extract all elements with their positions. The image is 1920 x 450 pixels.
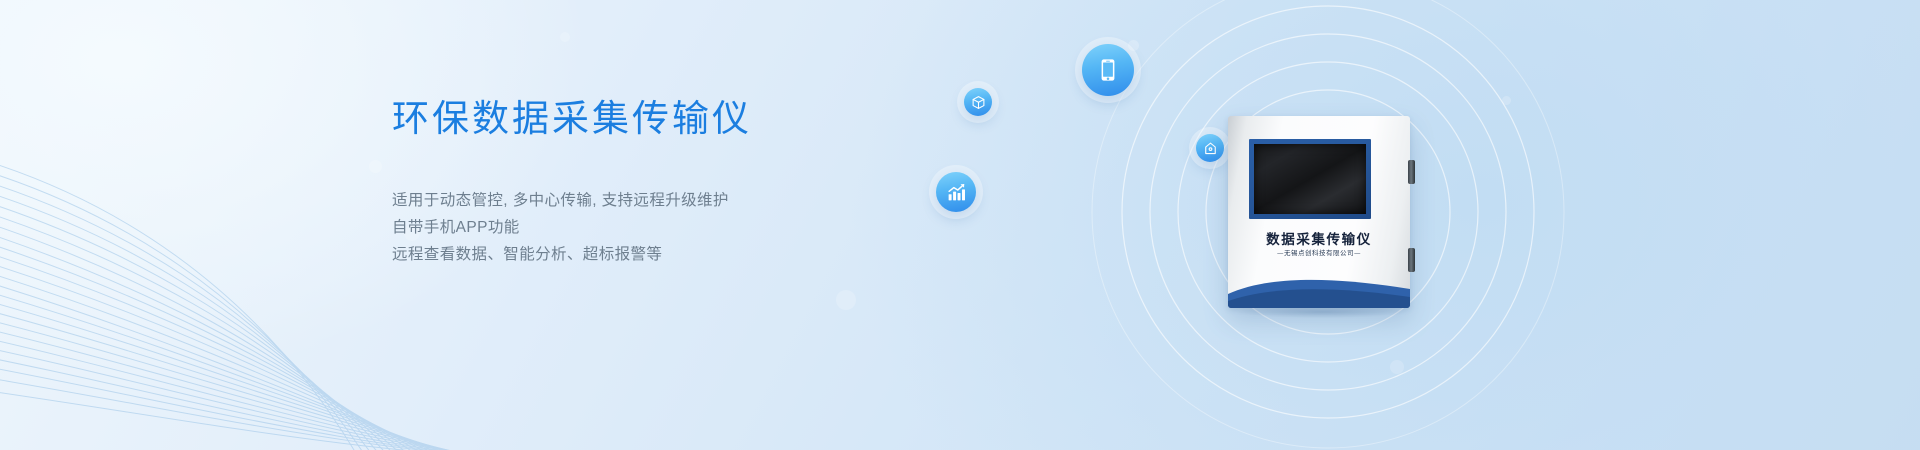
subtitle-line-3: 远程查看数据、智能分析、超标报警等 bbox=[392, 241, 912, 268]
page-title: 环保数据采集传输仪 bbox=[392, 96, 912, 143]
bokeh-dot bbox=[560, 32, 570, 42]
device-screen-frame bbox=[1249, 139, 1371, 219]
product-hero-banner: 环保数据采集传输仪 适用于动态管控, 多中心传输, 支持远程升级维护 自带手机A… bbox=[0, 0, 1920, 450]
bokeh-dot bbox=[836, 290, 856, 310]
icon-bubble-cube[interactable] bbox=[964, 88, 992, 116]
device-hinge-bottom bbox=[1408, 248, 1415, 272]
device-body: 数据采集传输仪 —无锡点创科技有限公司— bbox=[1228, 116, 1410, 308]
product-scene: 数据采集传输仪 —无锡点创科技有限公司— bbox=[1060, 0, 1600, 450]
bokeh-dot bbox=[369, 160, 382, 173]
device-hinge-top bbox=[1408, 160, 1415, 184]
hero-text-block: 环保数据采集传输仪 适用于动态管控, 多中心传输, 支持远程升级维护 自带手机A… bbox=[392, 96, 912, 268]
icon-bubble-alarm[interactable] bbox=[1196, 134, 1224, 162]
device-footer-wave bbox=[1228, 268, 1410, 308]
mobile-phone-icon bbox=[1096, 58, 1120, 82]
icon-bubble-chart[interactable] bbox=[936, 172, 976, 212]
device-lcd-display bbox=[1254, 144, 1366, 214]
cube-box-icon bbox=[971, 95, 986, 110]
hero-subtitle-list: 适用于动态管控, 多中心传输, 支持远程升级维护 自带手机APP功能 远程查看数… bbox=[392, 187, 912, 268]
device-brand-label: 数据采集传输仪 bbox=[1228, 228, 1410, 248]
alarm-bell-icon bbox=[1203, 141, 1218, 156]
icon-bubble-phone[interactable] bbox=[1082, 44, 1134, 96]
subtitle-line-1: 适用于动态管控, 多中心传输, 支持远程升级维护 bbox=[392, 187, 912, 214]
subtitle-line-2: 自带手机APP功能 bbox=[392, 214, 912, 241]
chart-growth-icon bbox=[946, 182, 967, 203]
device-company-label: —无锡点创科技有限公司— bbox=[1228, 247, 1410, 257]
product-device[interactable]: 数据采集传输仪 —无锡点创科技有限公司— bbox=[1228, 116, 1410, 308]
